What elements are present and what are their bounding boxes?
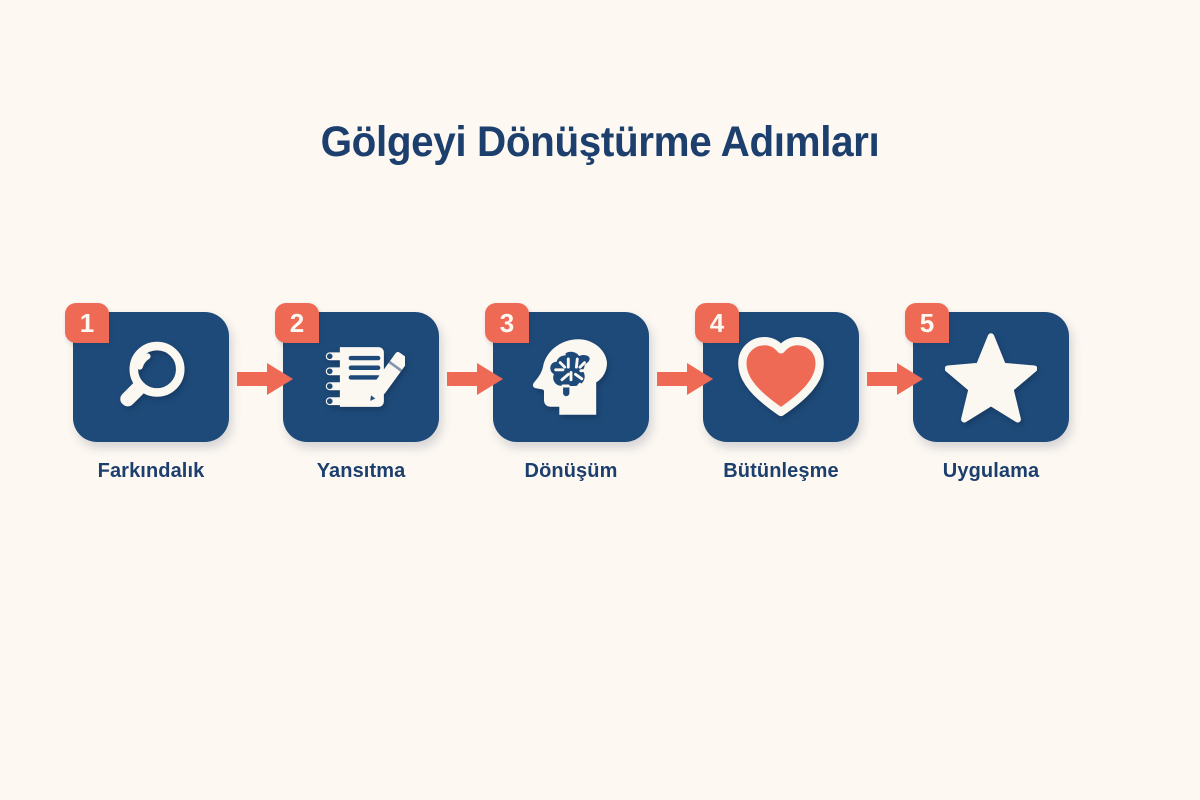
step-badge-4: 4 <box>695 303 739 343</box>
step-badge-1: 1 <box>65 303 109 343</box>
step-badge-2: 2 <box>275 303 319 343</box>
process-step-4[interactable]: 4 Bütünleşme <box>703 300 859 500</box>
infographic-canvas: Gölgeyi Dönüştürme Adımları 1 Farkındalı… <box>0 0 1200 800</box>
process-steps-row: 1 Farkındalık <box>55 300 1145 500</box>
step-label-1: Farkındalık <box>59 460 243 483</box>
step-badge-5: 5 <box>905 303 949 343</box>
heart-icon <box>735 331 827 423</box>
notebook-pencil-icon <box>315 331 407 423</box>
arrow-right-icon <box>867 362 923 396</box>
step-label-5: Uygulama <box>899 460 1083 483</box>
step-label-2: Yansıtma <box>269 460 453 483</box>
process-step-5[interactable]: 5 Uygulama <box>913 300 1069 500</box>
process-step-2[interactable]: 2 Yansıtma <box>283 300 439 500</box>
arrow-right-icon <box>237 362 293 396</box>
step-label-4: Bütünleşme <box>689 460 873 483</box>
star-icon <box>945 331 1037 423</box>
step-label-3: Dönüşüm <box>479 460 663 483</box>
process-step-3[interactable]: 3 Dönüşüm <box>493 300 649 500</box>
page-title: Gölgeyi Dönüştürme Adımları <box>36 118 1164 167</box>
process-step-1[interactable]: 1 Farkındalık <box>73 300 229 500</box>
magnifying-glass-icon <box>105 331 197 423</box>
arrow-right-icon <box>657 362 713 396</box>
head-brain-icon <box>525 331 617 423</box>
arrow-right-icon <box>447 362 503 396</box>
step-badge-3: 3 <box>485 303 529 343</box>
